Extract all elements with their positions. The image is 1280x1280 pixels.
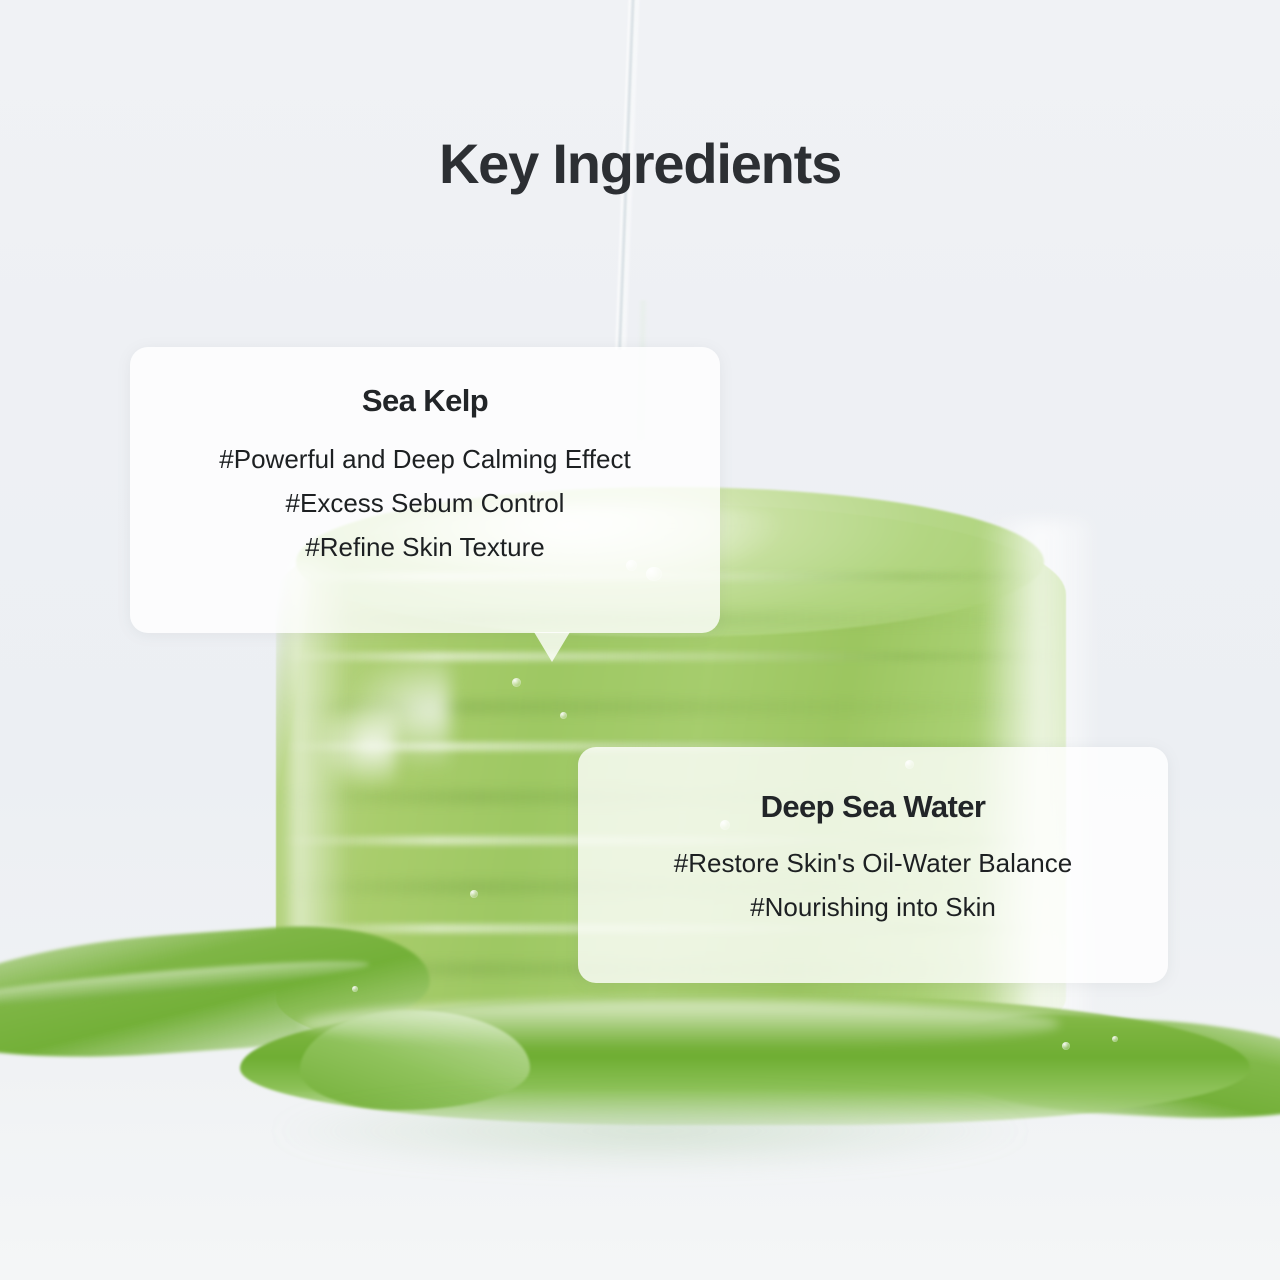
gel-puddle-gloss [300,1000,1060,1048]
card-line: #Excess Sebum Control [130,481,720,525]
card-tail-icon [534,632,570,662]
bubble-icon [560,712,567,719]
card-line: #Refine Skin Texture [130,525,720,569]
bubble-icon [1112,1036,1118,1042]
page-title: Key Ingredients [0,131,1280,196]
ingredient-card-sea-kelp: Sea Kelp #Powerful and Deep Calming Effe… [130,347,720,633]
bubble-icon [352,986,358,992]
key-ingredients-page: Key Ingredients Sea Kelp #Powerful and D… [0,0,1280,1280]
surface-shadow [120,1095,1180,1185]
bubble-icon [512,678,521,687]
card-title-sea-kelp: Sea Kelp [130,383,720,419]
bubble-icon [470,890,478,898]
card-title-deep-sea-water: Deep Sea Water [578,789,1168,825]
bubble-icon [1062,1042,1070,1050]
card-line: #Restore Skin's Oil-Water Balance [578,841,1168,885]
ingredient-card-deep-sea-water: Deep Sea Water #Restore Skin's Oil-Water… [578,747,1168,983]
card-line: #Powerful and Deep Calming Effect [130,437,720,481]
card-line: #Nourishing into Skin [578,885,1168,929]
